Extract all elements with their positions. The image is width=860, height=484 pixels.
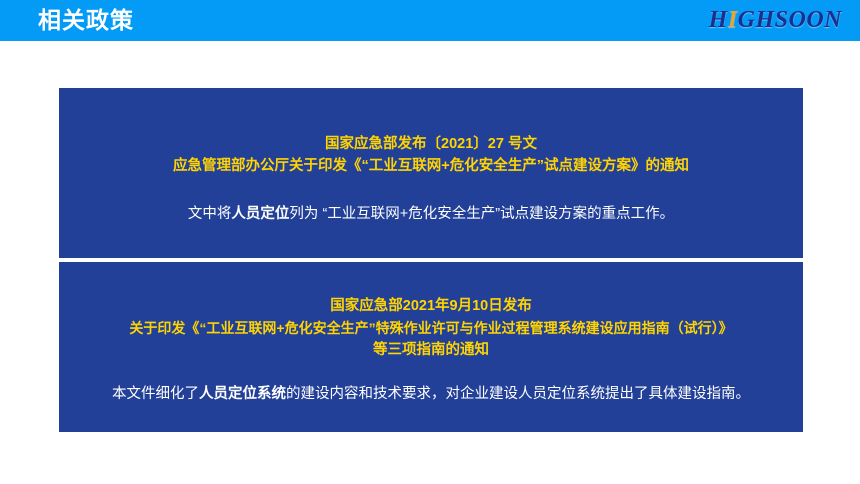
policy-card-1: 国家应急部发布〔2021〕27 号文 应急管理部办公厅关于印发《“工业互联网+危… bbox=[59, 88, 803, 258]
policy-2-body: 本文件细化了人员定位系统的建设内容和技术要求，对企业建设人员定位系统提出了具体建… bbox=[67, 383, 795, 405]
policy-2-headline-line-1: 国家应急部2021年9月10日发布 bbox=[67, 295, 795, 317]
policy-card-2: 国家应急部2021年9月10日发布 关于印发《“工业互联网+危化安全生产”特殊作… bbox=[59, 262, 803, 432]
policy-2-headline-group: 国家应急部2021年9月10日发布 关于印发《“工业互联网+危化安全生产”特殊作… bbox=[67, 295, 795, 361]
policy-2-body-prefix: 本文件细化了 bbox=[112, 386, 199, 402]
policy-1-headline-line-2: 应急管理部办公厅关于印发《“工业互联网+危化安全生产”试点建设方案》的通知 bbox=[67, 155, 795, 177]
policy-1-headline-line-1: 国家应急部发布〔2021〕27 号文 bbox=[67, 133, 795, 155]
page-header: 相关政策 HIGHSOON bbox=[0, 0, 860, 41]
policy-2-body-suffix: 的建设内容和技术要求，对企业建设人员定位系统提出了具体建设指南。 bbox=[286, 386, 750, 402]
logo-text-accent: I bbox=[728, 7, 738, 33]
logo-text-part-2: GHSOON bbox=[738, 7, 842, 33]
policy-2-headline-line-2: 关于印发《“工业互联网+危化安全生产”特殊作业许可与作业过程管理系统建设应用指南… bbox=[67, 317, 795, 339]
policy-1-body-prefix: 文中将 bbox=[188, 206, 232, 222]
policy-1-body: 文中将人员定位列为 “工业互联网+危化安全生产”试点建设方案的重点工作。 bbox=[67, 203, 795, 225]
policy-1-body-emphasis: 人员定位 bbox=[231, 206, 289, 222]
policy-2-body-emphasis: 人员定位系统 bbox=[199, 386, 286, 402]
policy-1-headline-group: 国家应急部发布〔2021〕27 号文 应急管理部办公厅关于印发《“工业互联网+危… bbox=[67, 133, 795, 177]
policy-1-body-suffix: 列为 “工业互联网+危化安全生产”试点建设方案的重点工作。 bbox=[289, 206, 674, 222]
page-title: 相关政策 bbox=[38, 7, 134, 34]
logo-text-part-1: H bbox=[709, 7, 728, 33]
brand-logo: HIGHSOON bbox=[709, 7, 842, 34]
policy-2-headline-line-3: 等三项指南的通知 bbox=[67, 339, 795, 361]
